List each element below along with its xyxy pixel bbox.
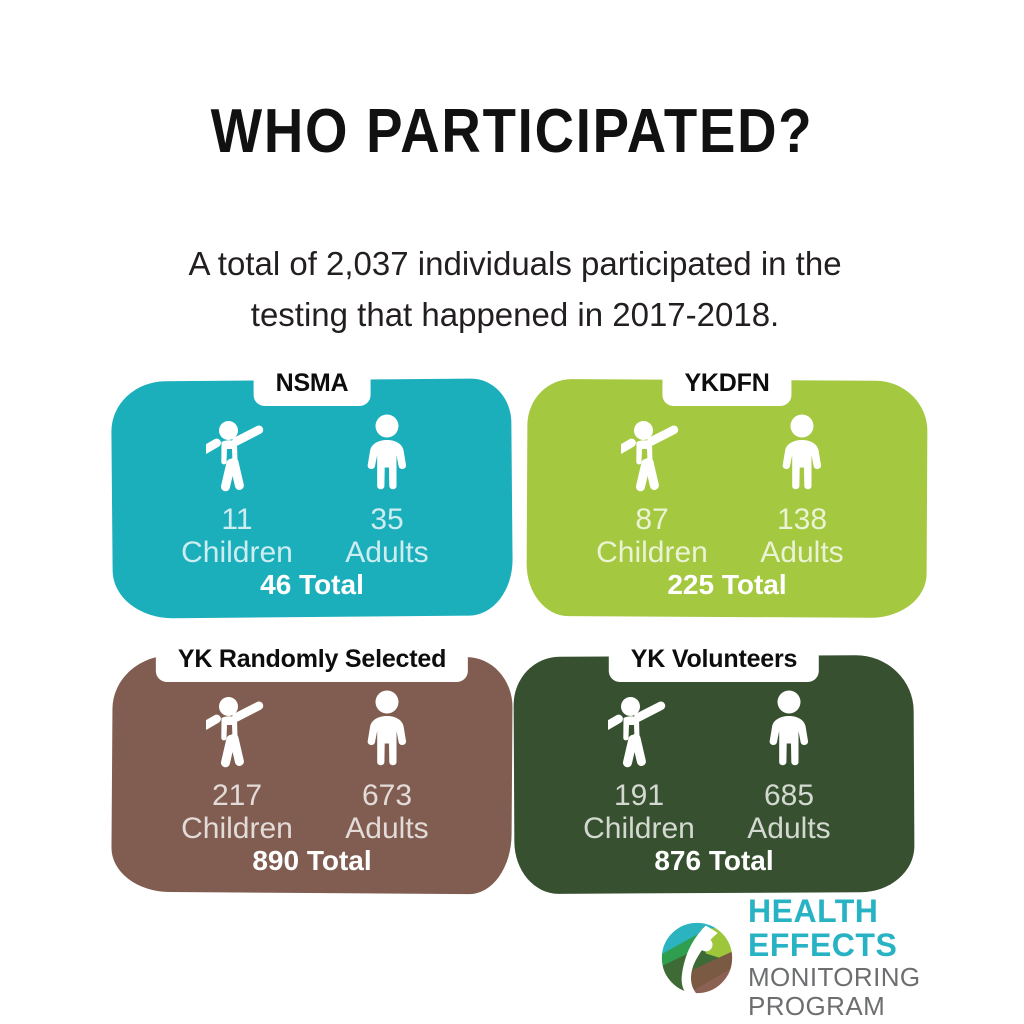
children-label: Children <box>583 812 695 846</box>
adults-label: Adults <box>345 536 428 570</box>
card-label: NSMA <box>254 362 371 406</box>
children-column: 191 Children <box>564 690 714 845</box>
child-icon <box>206 414 268 492</box>
program-logo: HEALTH EFFECTS MONITORING PROGRAM <box>660 918 980 998</box>
people-row: 191 Children 685 Adults <box>514 690 914 845</box>
card-label: YK Volunteers <box>609 638 819 682</box>
participation-card-yk-randomly-selected: YK Randomly Selected 217 <box>112 638 512 893</box>
participation-card-yk-volunteers: YK Volunteers 191 <box>514 638 914 893</box>
adult-icon <box>774 414 830 492</box>
children-column: 87 Children <box>577 414 727 569</box>
card-total: 225 Total <box>527 569 927 601</box>
page-title: WHO PARTICIPATED? <box>61 96 962 167</box>
adults-count: 685 <box>764 780 814 812</box>
children-label: Children <box>181 812 293 846</box>
logo-line-health-effects: HEALTH EFFECTS <box>748 895 980 963</box>
children-count: 11 <box>221 504 252 536</box>
children-column: 11 Children <box>162 414 312 569</box>
adults-column: 35 Adults <box>312 414 462 569</box>
card-total: 890 Total <box>112 845 512 877</box>
page-subtitle: A total of 2,037 individuals participate… <box>145 238 885 340</box>
adults-count: 138 <box>777 504 827 536</box>
logo-line-monitoring-program: MONITORING PROGRAM <box>748 963 980 1021</box>
child-icon <box>206 690 268 768</box>
adult-icon <box>359 414 415 492</box>
children-count: 191 <box>614 780 664 812</box>
adults-label: Adults <box>747 812 830 846</box>
card-total: 46 Total <box>112 569 512 601</box>
child-icon <box>608 690 670 768</box>
adults-column: 685 Adults <box>714 690 864 845</box>
logo-wordmark: HEALTH EFFECTS MONITORING PROGRAM <box>748 895 980 1021</box>
people-row: 217 Children 673 Adults <box>112 690 512 845</box>
participation-card-ykdfn: YKDFN 87 Childre <box>527 362 927 617</box>
adults-column: 138 Adults <box>727 414 877 569</box>
people-row: 11 Children 35 Adults <box>112 414 512 569</box>
adults-count: 35 <box>370 504 403 536</box>
adults-label: Adults <box>345 812 428 846</box>
card-label: YK Randomly Selected <box>156 638 468 682</box>
children-label: Children <box>181 536 293 570</box>
children-column: 217 Children <box>162 690 312 845</box>
adults-count: 673 <box>362 780 412 812</box>
children-count: 217 <box>212 780 262 812</box>
adults-column: 673 Adults <box>312 690 462 845</box>
participation-card-grid: NSMA 11 Children <box>0 362 1024 902</box>
participation-card-nsma: NSMA 11 Children <box>112 362 512 617</box>
card-total: 876 Total <box>514 845 914 877</box>
adult-icon <box>359 690 415 768</box>
people-row: 87 Children 138 Adults <box>527 414 927 569</box>
adults-label: Adults <box>760 536 843 570</box>
children-count: 87 <box>635 504 668 536</box>
card-label: YKDFN <box>662 362 791 406</box>
children-label: Children <box>596 536 708 570</box>
hemp-logo-icon <box>660 921 734 995</box>
child-icon <box>621 414 683 492</box>
adult-icon <box>761 690 817 768</box>
